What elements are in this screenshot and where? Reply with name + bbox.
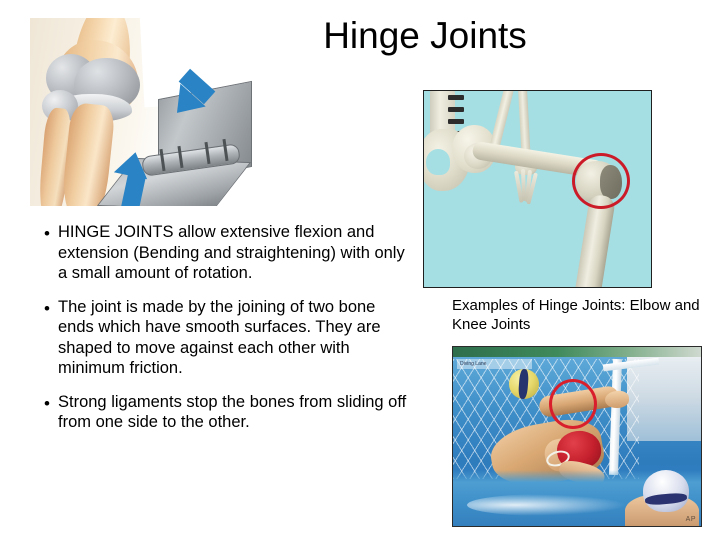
bullet-marker: •	[36, 392, 58, 414]
bullet-text: The joint is made by the joining of two …	[58, 297, 414, 379]
bullet-text: HINGE JOINTS allow extensive flexion and…	[58, 222, 414, 284]
photo-watermark-top: Diving Lane	[457, 359, 532, 369]
page-title: Hinge Joints	[260, 14, 590, 58]
bullet-marker: •	[36, 222, 58, 244]
vertebra-marking	[448, 95, 464, 100]
second-player-cap	[643, 470, 689, 512]
bullet-item: • HINGE JOINTS allow extensive flexion a…	[36, 222, 414, 284]
vertebra-marking	[448, 119, 464, 124]
bullet-item: • The joint is made by the joining of tw…	[36, 297, 414, 379]
water-splash	[467, 494, 627, 516]
photo-watermark-corner: AP	[686, 516, 696, 523]
red-highlight-circle	[572, 153, 630, 209]
vertebra-marking	[448, 107, 464, 112]
slide-canvas: Hinge Joints	[0, 0, 720, 540]
bullet-marker: •	[36, 297, 58, 319]
pelvis-foramen	[426, 149, 450, 175]
skeleton-knee-joint-photo	[423, 90, 652, 288]
bullet-item: • Strong ligaments stop the bones from s…	[36, 392, 414, 433]
elbow-joint-and-door-hinge-illustration	[30, 18, 258, 206]
bullet-text: Strong ligaments stop the bones from sli…	[58, 392, 414, 433]
image-caption: Examples of Hinge Joints: Elbow and Knee…	[452, 296, 702, 334]
water-polo-goalkeeper-photo: Diving Lane AP	[452, 346, 702, 527]
hand-bones	[512, 165, 542, 211]
body-text-block: • HINGE JOINTS allow extensive flexion a…	[36, 222, 414, 446]
red-highlight-circle	[549, 379, 597, 429]
photo-top-band	[453, 347, 701, 357]
